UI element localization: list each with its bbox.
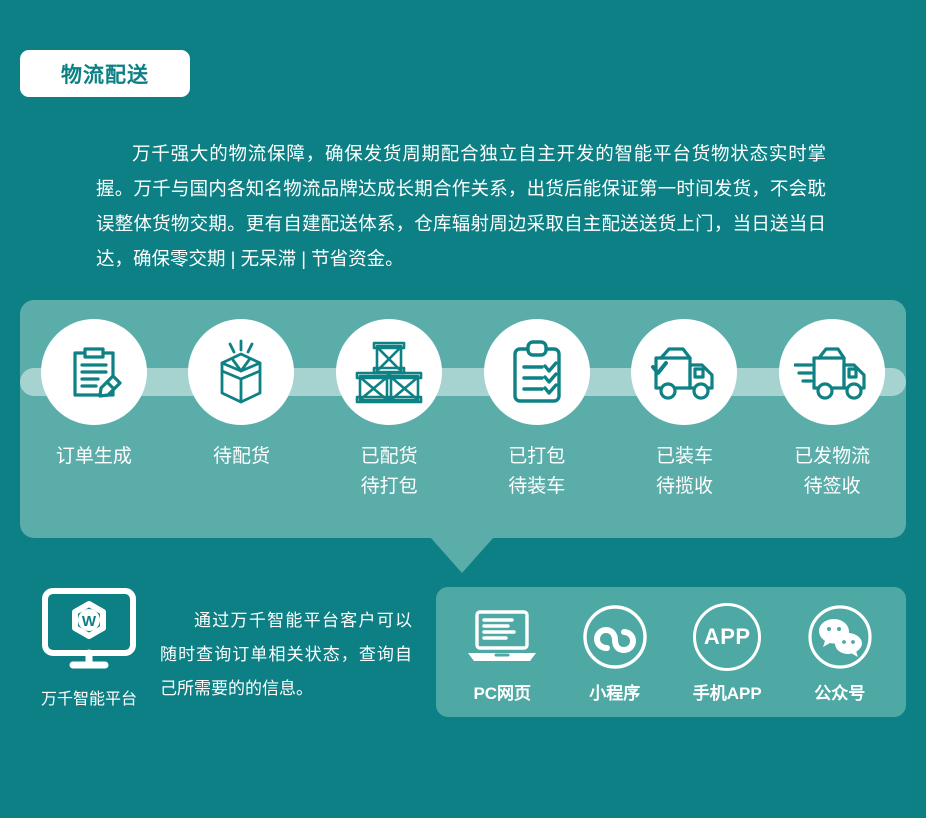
- channel-pc-web[interactable]: PC网页: [450, 601, 554, 704]
- step-icon-circle: [188, 319, 294, 425]
- svg-text:W: W: [82, 613, 97, 630]
- platform-description: 通过万千智能平台客户可以随时查询订单相关状态，查询自己所需要的的信息。: [160, 604, 412, 706]
- truck-moving-icon: [794, 341, 870, 403]
- channel-label: 公众号: [814, 679, 865, 704]
- platform-label: 万千智能平台: [41, 685, 137, 709]
- step-icon-circle: [336, 319, 442, 425]
- step-label: 已配货 待打包: [361, 442, 418, 502]
- step-order-created[interactable]: 订单生成: [24, 319, 164, 472]
- step-icon-circle: [779, 319, 885, 425]
- clipboard-pencil-icon: [61, 339, 127, 405]
- step-loaded-awaiting-pickup[interactable]: 已装车 待揽收: [614, 319, 754, 502]
- step-icon-circle: [631, 319, 737, 425]
- channel-label: 手机APP: [693, 679, 762, 704]
- step-icon-circle: [484, 319, 590, 425]
- section-badge: 物流配送: [20, 50, 190, 97]
- app-circle-glyph: APP: [693, 603, 761, 671]
- wechat-icon: [806, 601, 874, 673]
- step-awaiting-picking[interactable]: 待配货: [171, 319, 311, 472]
- mini-program-icon: [581, 601, 649, 673]
- step-label: 已发物流 待签收: [794, 442, 870, 502]
- step-label: 订单生成: [56, 442, 132, 472]
- section-badge-label: 物流配送: [61, 59, 149, 89]
- logistics-infographic-page: 物流配送 万千强大的物流保障，确保发货周期配合独立自主开发的智能平台货物状态实时…: [0, 0, 926, 818]
- channel-mini-program[interactable]: 小程序: [563, 601, 667, 704]
- step-label: 已打包 待装车: [508, 442, 565, 502]
- step-picked-awaiting-pack[interactable]: 已配货 待打包: [319, 319, 459, 502]
- monitor-w-logo-icon: W: [39, 586, 139, 672]
- channel-mobile-app[interactable]: APP 手机APP: [675, 601, 779, 704]
- step-label: 待配货: [213, 442, 270, 472]
- panel-pointer-arrow: [430, 537, 494, 573]
- crates-icon: [354, 338, 424, 406]
- steps-list: 订单生成 待配货: [20, 300, 906, 538]
- platform-brand: W 万千智能平台: [36, 586, 142, 709]
- intro-paragraph: 万千强大的物流保障，确保发货周期配合独立自主开发的智能平台货物状态实时掌握。万千…: [96, 136, 826, 276]
- step-shipped-awaiting-sign[interactable]: 已发物流 待签收: [762, 319, 902, 502]
- step-packed-awaiting-load[interactable]: 已打包 待装车: [467, 319, 607, 502]
- channels-panel: PC网页 小程序 APP 手机APP: [436, 587, 906, 717]
- step-label: 已装车 待揽收: [656, 442, 713, 502]
- channel-label: PC网页: [473, 679, 531, 704]
- app-circle-icon: APP: [693, 601, 761, 673]
- step-icon-circle: [41, 319, 147, 425]
- checklist-icon: [505, 338, 569, 406]
- open-box-icon: [206, 337, 276, 407]
- channel-official-account[interactable]: 公众号: [788, 601, 892, 704]
- laptop-icon: [464, 601, 540, 673]
- truck-check-icon: [648, 341, 720, 403]
- channel-label: 小程序: [589, 679, 640, 704]
